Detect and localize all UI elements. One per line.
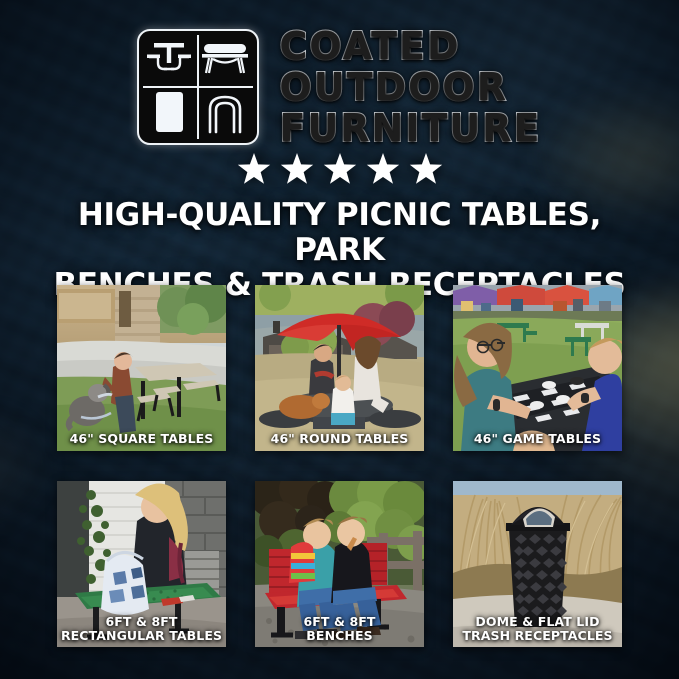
caption-line: 46" ROUND TABLES xyxy=(257,432,422,446)
brand-wordmark: COATED OUTDOOR FURNITURE xyxy=(279,26,541,148)
product-caption: 46" ROUND TABLES xyxy=(257,432,422,446)
round-tables-photo xyxy=(255,285,424,451)
product-caption: 6FT & 8FT RECTANGULAR TABLES xyxy=(59,615,224,643)
game-tables-photo xyxy=(453,285,622,451)
coated-outdoor-furniture-logo-icon xyxy=(137,29,259,145)
caption-line: 46" GAME TABLES xyxy=(455,432,620,446)
product-grid: 46" SQUARE TABLES xyxy=(57,285,622,647)
star-rating xyxy=(0,152,679,186)
caption-line: 6FT & 8FT xyxy=(257,615,422,629)
bike-rack-icon xyxy=(197,87,253,139)
star-icon xyxy=(280,152,314,186)
bench-icon xyxy=(197,35,253,87)
caption-line: RECTANGULAR TABLES xyxy=(59,629,224,643)
product-tile-round-tables[interactable]: 46" ROUND TABLES xyxy=(255,285,424,451)
caption-line: TRASH RECEPTACLES xyxy=(455,629,620,643)
square-tables-photo xyxy=(57,285,226,451)
caption-line: 6FT & 8FT xyxy=(59,615,224,629)
headline-line-1: HIGH-QUALITY PICNIC TABLES, PARK xyxy=(78,197,601,268)
star-icon xyxy=(323,152,357,186)
star-icon xyxy=(366,152,400,186)
product-caption: DOME & FLAT LID TRASH RECEPTACLES xyxy=(455,615,620,643)
trash-receptacle-icon xyxy=(141,87,197,139)
brand-logo: COATED OUTDOOR FURNITURE xyxy=(0,26,679,148)
caption-line: DOME & FLAT LID xyxy=(455,615,620,629)
product-caption: 46" SQUARE TABLES xyxy=(59,432,224,446)
product-banner: COATED OUTDOOR FURNITURE HIGH-QUALITY PI… xyxy=(0,0,679,679)
product-tile-square-tables[interactable]: 46" SQUARE TABLES xyxy=(57,285,226,451)
product-tile-trash-receptacles[interactable]: DOME & FLAT LID TRASH RECEPTACLES xyxy=(453,481,622,647)
square-picnic-table-icon xyxy=(141,35,197,87)
caption-line: BENCHES xyxy=(257,629,422,643)
caption-line: 46" SQUARE TABLES xyxy=(59,432,224,446)
brand-word-coated: COATED xyxy=(279,26,541,66)
product-tile-game-tables[interactable]: 46" GAME TABLES xyxy=(453,285,622,451)
brand-word-outdoor: OUTDOOR xyxy=(279,67,541,107)
product-caption: 46" GAME TABLES xyxy=(455,432,620,446)
brand-word-furniture: FURNITURE xyxy=(279,108,541,148)
star-icon xyxy=(409,152,443,186)
star-icon xyxy=(237,152,271,186)
product-caption: 6FT & 8FT BENCHES xyxy=(257,615,422,643)
product-tile-benches[interactable]: 6FT & 8FT BENCHES xyxy=(255,481,424,647)
product-tile-rectangular-tables[interactable]: 6FT & 8FT RECTANGULAR TABLES xyxy=(57,481,226,647)
